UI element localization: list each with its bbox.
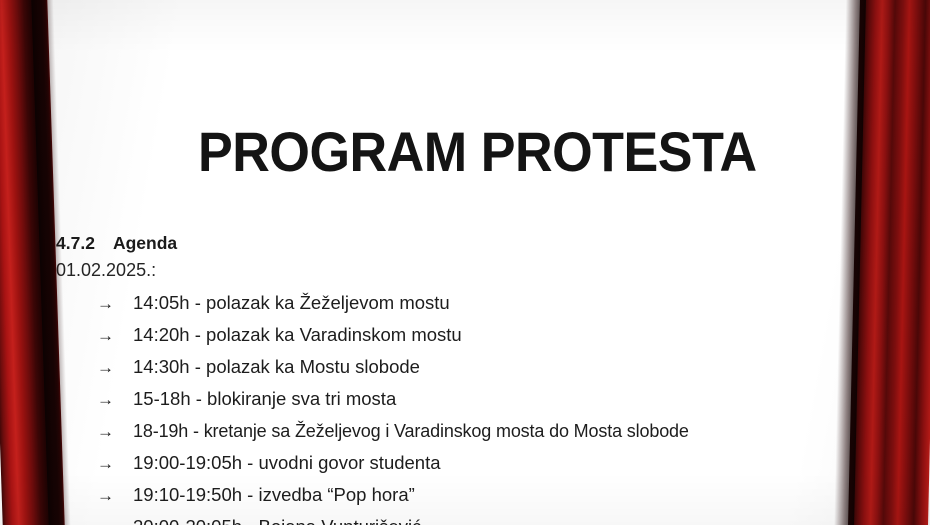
agenda-list: → 14:05h - polazak ka Žeželjevom mostu →… [56, 287, 930, 525]
agenda-heading: 4.7.2Agenda [56, 230, 930, 256]
agenda-section-label: Agenda [113, 233, 177, 253]
arrow-right-icon: → [97, 384, 133, 416]
list-item-label: 14:20h - polazak ka Varadinskom mostu [133, 319, 462, 351]
arrow-right-icon: → [97, 512, 133, 525]
arrow-right-icon: → [97, 320, 133, 352]
list-item: → 19:10-19:50h - izvedba “Pop hora” [56, 479, 930, 511]
arrow-right-icon: → [97, 416, 133, 448]
page-title: PROGRAM PROTESTA [198, 122, 757, 182]
arrow-right-icon: → [97, 480, 133, 512]
list-item: → 14:30h - polazak ka Mostu slobode [56, 351, 930, 383]
agenda-block: 4.7.2Agenda 01.02.2025.: → 14:05h - pola… [56, 230, 930, 525]
list-item-label: 20:00-20:05h - Bojana Vunturišević [133, 511, 421, 525]
list-item-label: 14:30h - polazak ka Mostu slobode [133, 351, 420, 383]
list-item-label: 14:05h - polazak ka Žeželjevom mostu [133, 287, 450, 319]
arrow-right-icon: → [97, 352, 133, 384]
agenda-date: 01.02.2025.: [56, 256, 930, 284]
list-item-label: 19:10-19:50h - izvedba “Pop hora” [133, 479, 415, 511]
slide-content: PROGRAM PROTESTA 4.7.2Agenda 01.02.2025.… [0, 0, 930, 525]
protest-program-slide: PROGRAM PROTESTA 4.7.2Agenda 01.02.2025.… [0, 0, 930, 525]
arrow-right-icon: → [97, 288, 133, 320]
list-item: → 14:05h - polazak ka Žeželjevom mostu [56, 287, 930, 319]
list-item: → 18-19h - kretanje sa Žeželjevog i Vara… [56, 415, 930, 447]
list-item-label: 19:00-19:05h - uvodni govor studenta [133, 447, 441, 479]
list-item: → 19:00-19:05h - uvodni govor studenta [56, 447, 930, 479]
arrow-right-icon: → [97, 448, 133, 480]
list-item-label: 18-19h - kretanje sa Žeželjevog i Varadi… [133, 415, 689, 447]
agenda-section-number: 4.7.2 [56, 233, 95, 253]
list-item-label: 15-18h - blokiranje sva tri mosta [133, 383, 396, 415]
list-item: → 20:00-20:05h - Bojana Vunturišević [56, 511, 930, 525]
list-item: → 15-18h - blokiranje sva tri mosta [56, 383, 930, 415]
list-item: → 14:20h - polazak ka Varadinskom mostu [56, 319, 930, 351]
